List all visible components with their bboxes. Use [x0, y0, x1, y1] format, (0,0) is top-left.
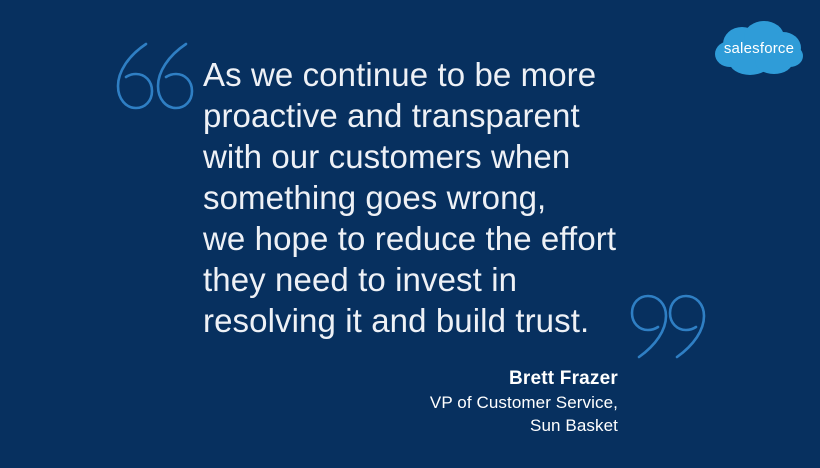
quote-line: resolving it and build trust. — [203, 300, 673, 341]
attribution-company: Sun Basket — [430, 414, 618, 437]
attribution-title: VP of Customer Service, — [430, 391, 618, 414]
quote-line: they need to invest in — [203, 259, 673, 300]
quote-text: As we continue to be more proactive and … — [203, 54, 673, 341]
attribution: Brett Frazer VP of Customer Service, Sun… — [430, 367, 618, 437]
quote-line: we hope to reduce the effort — [203, 218, 673, 259]
open-quote-mark — [112, 40, 194, 112]
quote-line: something goes wrong, — [203, 177, 673, 218]
attribution-name: Brett Frazer — [430, 367, 618, 391]
quote-line: with our customers when — [203, 136, 673, 177]
quote-line: proactive and transparent — [203, 95, 673, 136]
salesforce-wordmark: salesforce — [724, 40, 794, 57]
salesforce-cloud-logo: salesforce — [712, 20, 808, 82]
quote-slide: salesforce As we continue to be more pro… — [0, 0, 820, 468]
quote-line: As we continue to be more — [203, 54, 673, 95]
